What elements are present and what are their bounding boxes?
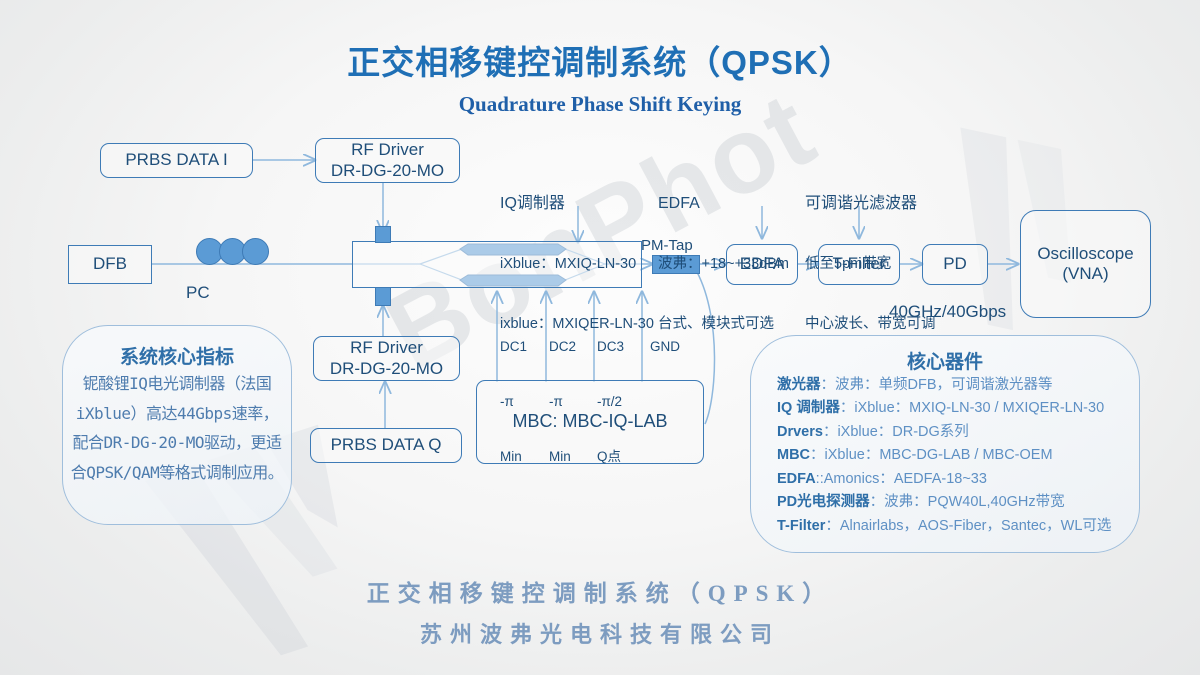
pc-ball-3 — [242, 238, 269, 265]
node-prbs-data-q[interactable]: PRBS DATA Q — [310, 428, 462, 463]
annotation-tfilter-title: 可调谐光滤波器 — [805, 193, 936, 215]
info-right-key-4: MBC — [777, 447, 810, 463]
annotation-edfa-title: EDFA — [658, 193, 789, 215]
info-box-core-components: 核心器件 激光器：波弗：单频DFB，可调谐激光器等 IQ 调制器：iXblue：… — [750, 335, 1140, 553]
bias-dc3-name: DC3 — [597, 338, 624, 356]
info-right-val-7: ：Alnairlabs，AOS-Fiber，Santec，WL可选 — [825, 518, 1111, 534]
info-right-row-3: Drvers：iXblue：DR-DG系列 — [751, 421, 1139, 444]
info-right-row-4: MBC：iXblue：MBC-DG-LAB / MBC-OEM — [751, 444, 1139, 467]
annotation-tunable-filter: 可调谐光滤波器 低至5pm带宽 中心波长、带宽可调 — [805, 152, 936, 354]
bias-dc1-name: DC1 — [500, 338, 527, 356]
annotation-iq-line1: iXblue：MXIQ-LN-30 — [500, 255, 654, 275]
info-right-key-7: T-Filter — [777, 518, 825, 534]
bias-dc2-name: DC2 — [549, 338, 576, 356]
info-right-val-1: ：波弗：单频DFB，可调谐激光器等 — [821, 377, 1053, 393]
info-right-key-1: 激光器 — [777, 377, 821, 393]
annotation-edfa-line1: 波弗：+18~+33dBm — [658, 255, 789, 275]
bias-dc1-phase: -π — [500, 393, 527, 411]
info-right-val-4: ：iXblue：MBC-DG-LAB / MBC-OEM — [810, 447, 1053, 463]
annotation-iq-title: IQ调制器 — [500, 193, 654, 215]
info-left-line-2: iXblue）高达44Gbps速率， — [63, 399, 291, 429]
info-right-val-2: ：iXblue：MXIQ-LN-30 / MXIQER-LN-30 — [840, 400, 1104, 416]
annotation-tfilter-line1: 低至5pm带宽 — [805, 255, 936, 275]
info-right-row-6: PD光电探测器：波弗：PQW40L,40GHz带宽 — [751, 491, 1139, 514]
bias-dc2-point: Min — [549, 448, 576, 466]
info-right-key-3: Drvers — [777, 424, 823, 440]
bias-dc3-phase: -π/2 — [597, 393, 624, 411]
info-right-row-2: IQ 调制器：iXblue：MXIQ-LN-30 / MXIQER-LN-30 — [751, 397, 1139, 420]
info-right-key-5: EDFA — [777, 471, 816, 487]
info-left-line-1: 铌酸锂IQ电光调制器（法国 — [63, 369, 291, 399]
modulator-rf-pad-top — [375, 226, 391, 243]
info-left-line-3: 配合DR-DG-20-MO驱动，更适 — [63, 428, 291, 458]
info-right-val-5: ::Amonics：AEDFA-18~33 — [816, 471, 987, 487]
info-right-row-5: EDFA::Amonics：AEDFA-18~33 — [751, 468, 1139, 491]
bias-dc3-point: Q点 — [597, 448, 624, 466]
page-title: 正交相移键控调制系统（QPSK） — [0, 36, 1200, 84]
bias-gnd-name: GND — [650, 338, 680, 356]
info-right-val-3: ：iXblue：DR-DG系列 — [823, 424, 969, 440]
bias-dc1-point: Min — [500, 448, 527, 466]
info-left-line-4: 合QPSK/QAM等格式调制应用。 — [63, 458, 291, 488]
bias-dc2-phase: -π — [549, 393, 576, 411]
page-subtitle: Quadrature Phase Shift Keying — [0, 92, 1200, 117]
node-oscilloscope[interactable]: Oscilloscope (VNA) — [1020, 210, 1151, 318]
node-rf-driver-bottom[interactable]: RF Driver DR-DG-20-MO — [313, 336, 460, 381]
bias-label-dc2: DC2 -π Min — [549, 302, 576, 484]
label-pc: PC — [186, 282, 210, 305]
info-right-key-6: PD光电探测器 — [777, 494, 870, 510]
info-right-key-2: IQ 调制器 — [777, 400, 840, 416]
info-box-system-metrics: 系统核心指标 铌酸锂IQ电光调制器（法国 iXblue）高达44Gbps速率， … — [62, 325, 292, 525]
info-right-row-1: 激光器：波弗：单频DFB，可调谐激光器等 — [751, 374, 1139, 397]
modulator-rf-pad-bottom — [375, 287, 391, 306]
node-dfb[interactable]: DFB — [68, 245, 152, 284]
info-right-val-6: ：波弗：PQW40L,40GHz带宽 — [870, 494, 1065, 510]
bias-label-dc1: DC1 -π Min — [500, 302, 527, 484]
info-left-title: 系统核心指标 — [63, 342, 291, 369]
footer-company: 苏州波弗光电科技有限公司 — [0, 617, 1200, 649]
node-prbs-data-i[interactable]: PRBS DATA I — [100, 143, 253, 178]
bias-label-gnd: GND — [650, 302, 680, 375]
footer-title-cn: 正交相移键控调制系统（QPSK） — [0, 574, 1200, 608]
annotation-tfilter-line2: 中心波长、带宽可调 — [805, 315, 936, 335]
info-right-row-7: T-Filter：Alnairlabs，AOS-Fiber，Santec，WL可… — [751, 515, 1139, 538]
node-rf-driver-top[interactable]: RF Driver DR-DG-20-MO — [315, 138, 460, 183]
bias-label-dc3: DC3 -π/2 Q点 — [597, 302, 624, 484]
